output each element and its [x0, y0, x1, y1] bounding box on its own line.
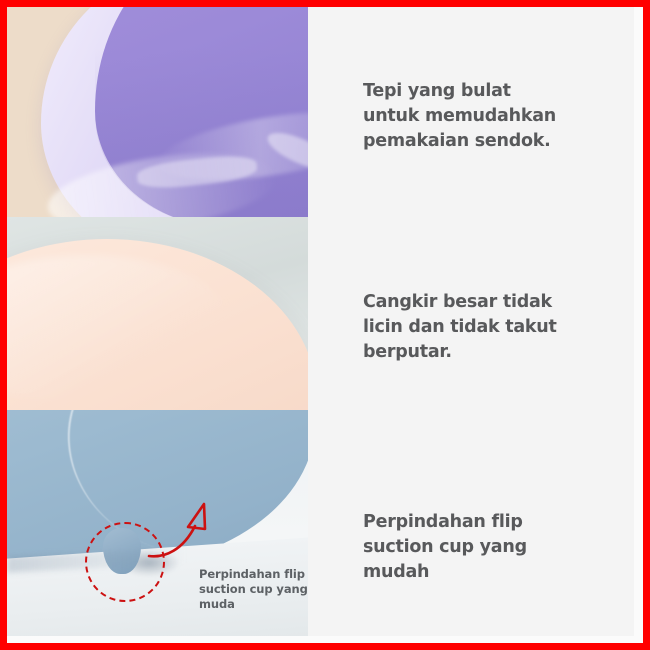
- feature-blurb-easy-flip-suction: Perpindahan flip suction cup yang mudah: [363, 510, 613, 585]
- photo-caption-flip-suction: Perpindahan flip suction cup yang muda: [199, 567, 308, 613]
- infographic-canvas: Perpindahan flip suction cup yang muda T…: [7, 7, 643, 643]
- feature-text-panel: Tepi yang bulat untuk memudahkan pemakai…: [318, 7, 643, 643]
- feature-blurb-rounded-rim: Tepi yang bulat untuk memudahkan pemakai…: [363, 79, 613, 154]
- photo-caption-line-1: Perpindahan flip: [199, 567, 308, 582]
- blurb1-line-3: pemakaian sendok.: [363, 129, 613, 154]
- right-gutter: [634, 7, 643, 643]
- blurb2-line-2: licin dan tidak takut: [363, 315, 613, 340]
- blurb3-line-3: mudah: [363, 560, 613, 585]
- photo-purple-bowl-rim: [7, 7, 308, 217]
- blurb3-line-1: Perpindahan flip: [363, 510, 613, 535]
- blurb2-line-1: Cangkir besar tidak: [363, 290, 613, 315]
- blurb1-line-2: untuk memudahkan: [363, 104, 613, 129]
- photo-caption-line-2: suction cup yang: [199, 582, 308, 597]
- product-photo-column: Perpindahan flip suction cup yang muda: [7, 7, 308, 643]
- blurb2-line-3: berputar.: [363, 340, 613, 365]
- blurb3-line-2: suction cup yang: [363, 535, 613, 560]
- blurb1-line-1: Tepi yang bulat: [363, 79, 613, 104]
- product-infographic-frame: Perpindahan flip suction cup yang muda T…: [0, 0, 650, 650]
- photo-peach-bowl-base: [7, 217, 308, 410]
- photo-caption-line-3: muda: [199, 597, 308, 612]
- photo-blue-bowl-flip-tab: Perpindahan flip suction cup yang muda: [7, 410, 308, 643]
- curved-arrow-icon: [147, 498, 227, 568]
- feature-blurb-non-slip-cup: Cangkir besar tidak licin dan tidak taku…: [363, 290, 613, 365]
- bottom-gutter: [7, 636, 643, 643]
